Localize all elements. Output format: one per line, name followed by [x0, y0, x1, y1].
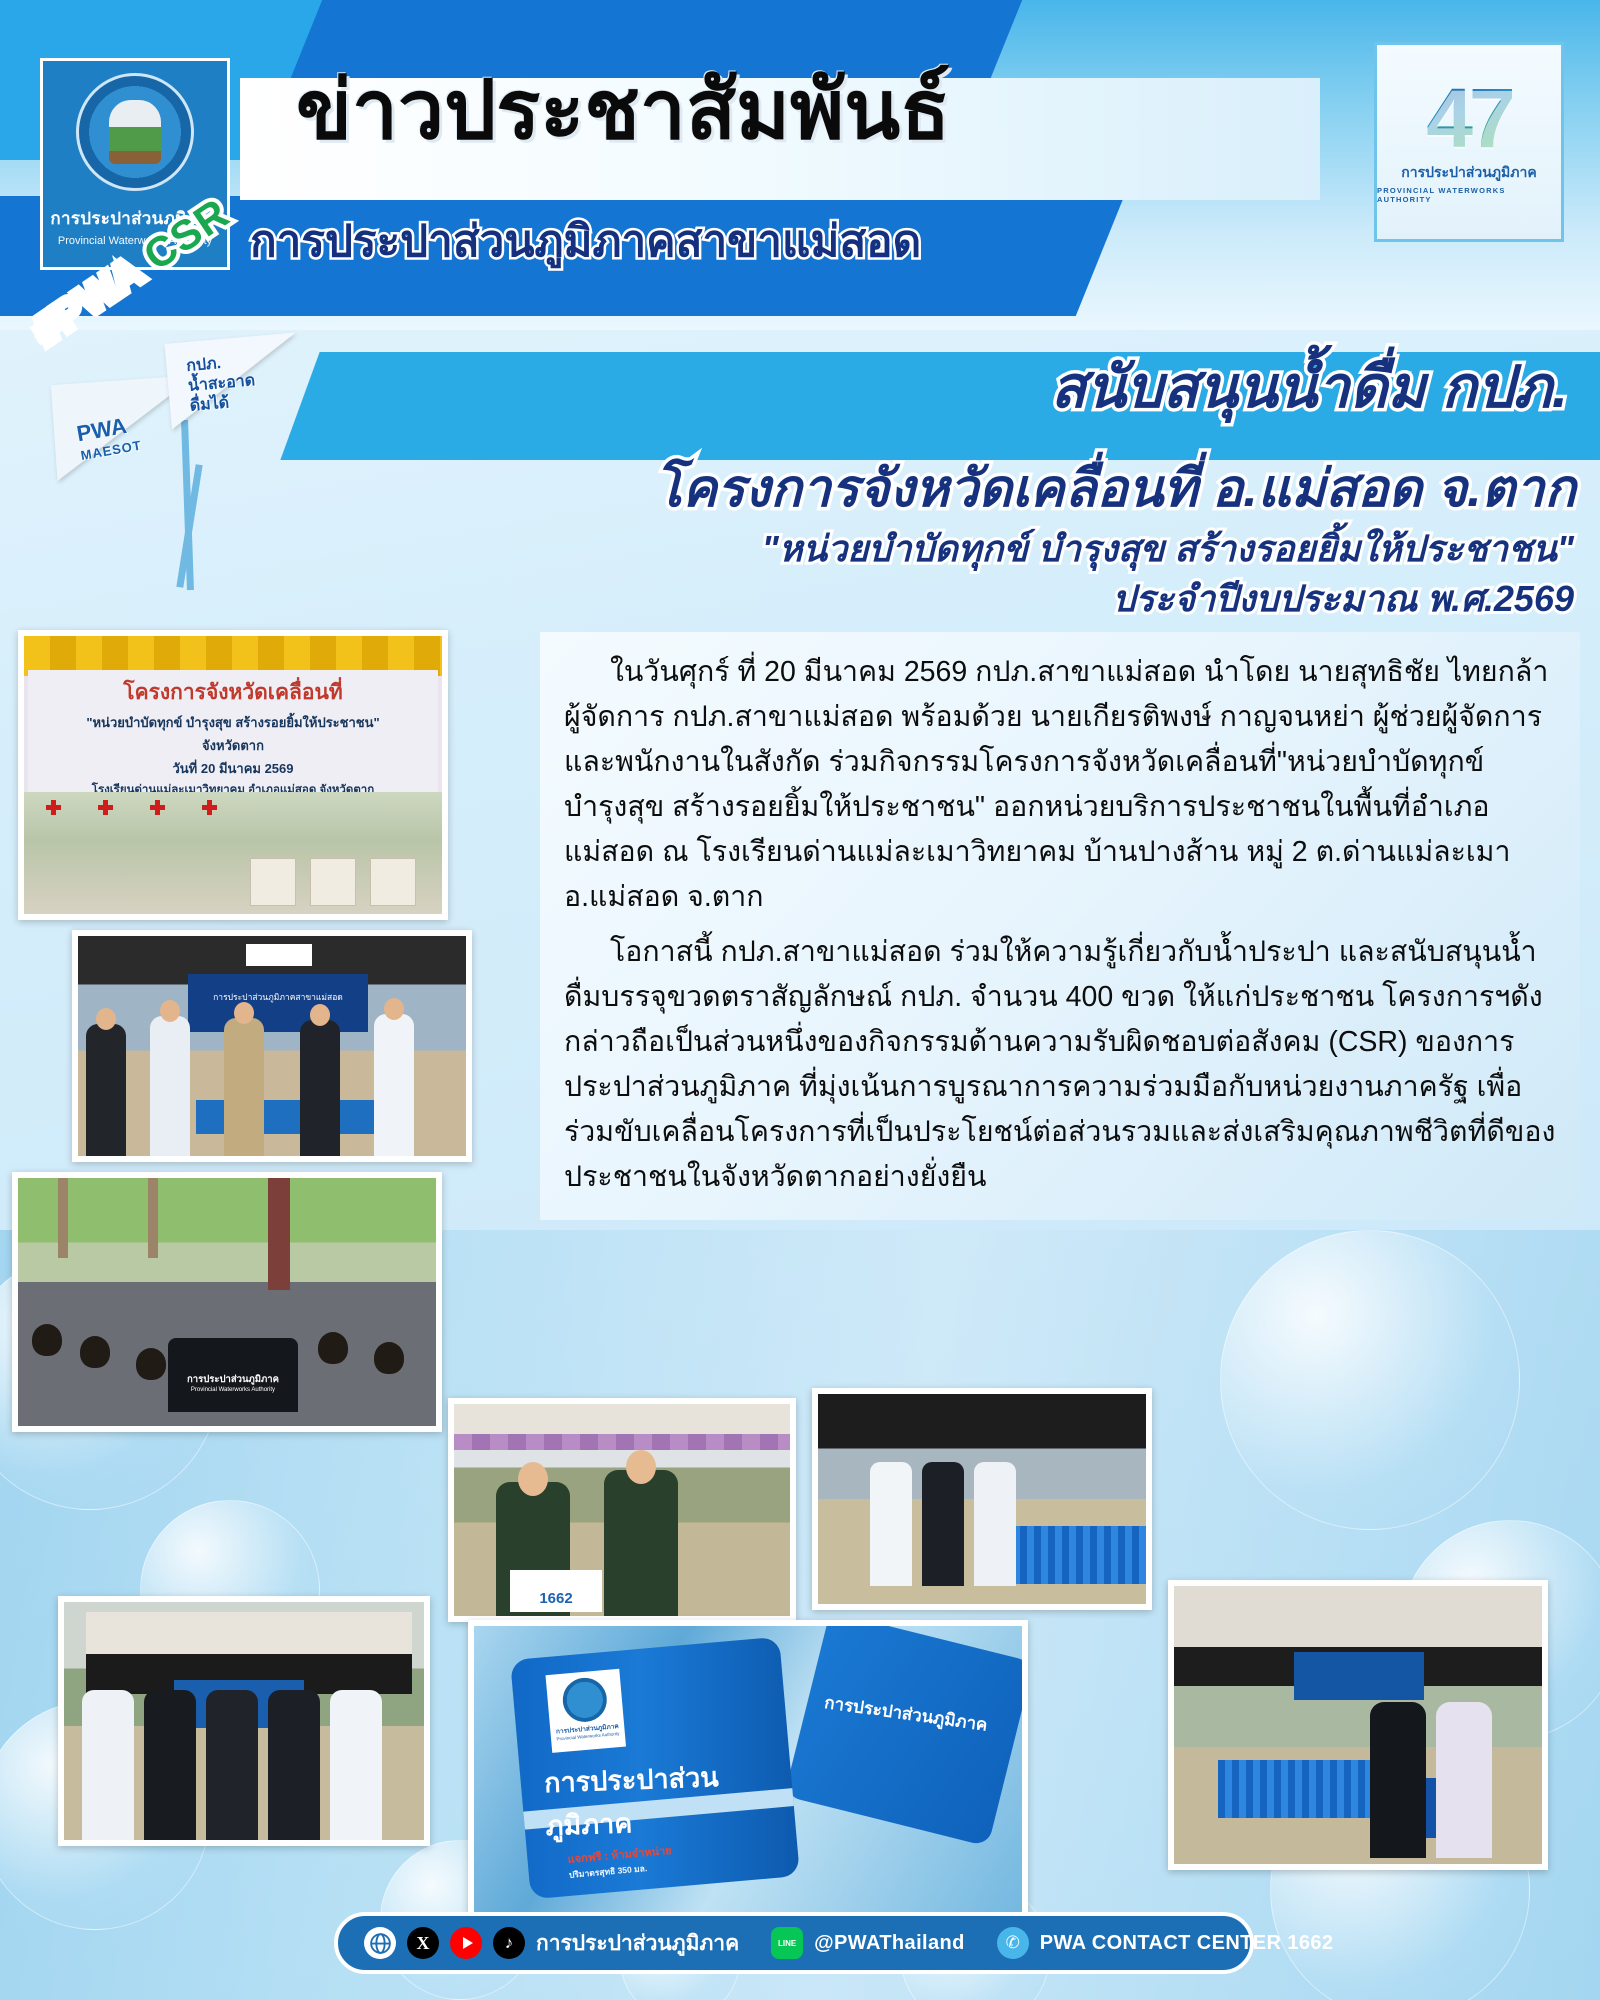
headline-line-4: ประจำปีงบประมาณ พ.ศ.2569: [1112, 578, 1574, 619]
pwa-seal-icon: [76, 73, 194, 191]
footer-contact-bar: X ♪ การประปาส่วนภูมิภาค LINE @PWAThailan…: [334, 1912, 1254, 1974]
secondary-bottle-brand: การประปาส่วนภูมิภาค: [823, 1689, 1019, 1743]
anniversary-english-name: PROVINCIAL WATERWORKS AUTHORITY: [1377, 186, 1561, 204]
booth-backdrop-banner: การประปาส่วนภูมิภาคสาขาแม่สอด: [188, 974, 368, 1032]
pwa-uniform-vest: การประปาส่วนภูมิภาค Provincial Waterwork…: [168, 1338, 298, 1412]
photo-team-at-booth: [812, 1388, 1152, 1610]
globe-icon[interactable]: [364, 1927, 396, 1959]
body-paragraph-1: ในวันศุกร์ ที่ 20 มีนาคม 2569 กปภ.สาขาแม…: [564, 650, 1558, 920]
body-paragraph-2: โอกาสนี้ กปภ.สาขาแม่สอด ร่วมให้ความรู้เก…: [564, 930, 1558, 1200]
bottle-brand-text: การประปาส่วนภูมิภาค: [543, 1753, 794, 1848]
bottle-seal-icon: [561, 1676, 609, 1724]
donation-goods-row: [24, 792, 442, 914]
banner-slogan: "หน่วยบำบัดทุกข์ บำรุงสุข สร้างรอยยิ้มให…: [28, 712, 438, 733]
photo-seated-audience: การประปาส่วนภูมิภาค Provincial Waterwork…: [12, 1172, 442, 1432]
phone-icon[interactable]: ✆: [997, 1927, 1029, 1959]
headline-line-1: สนับสนุนน้ำดื่ม กปภ.: [1051, 356, 1568, 420]
primary-bottle: การประปาส่วนภูมิภาค Provincial Waterwork…: [510, 1637, 800, 1900]
banner-title: โครงการจังหวัดเคลื่อนที่: [28, 676, 438, 709]
banner-text-block: โครงการจังหวัดเคลื่อนที่ "หน่วยบำบัดทุกข…: [28, 670, 438, 796]
anniversary-logo: 47 การประปาส่วนภูมิภาค PROVINCIAL WATERW…: [1374, 42, 1564, 242]
backdrop-thai: การประปาส่วนภูมิภาคสาขาแม่สอด: [188, 990, 368, 1004]
photo-event-banner: โครงการจังหวัดเคลื่อนที่ "หน่วยบำบัดทุกข…: [18, 630, 448, 920]
photo-staff-group: [58, 1596, 430, 1846]
vest-english-text: Provincial Waterworks Authority: [168, 1387, 298, 1393]
youtube-icon[interactable]: [450, 1927, 482, 1959]
banner-province: จังหวัดตาก: [28, 735, 438, 756]
footer-contact-center: PWA CONTACT CENTER 1662: [1040, 1932, 1334, 1955]
vest-thai-text: การประปาส่วนภูมิภาค: [168, 1372, 298, 1387]
photo-women-with-bottles: 1662: [448, 1398, 796, 1622]
footer-line-id: @PWAThailand: [814, 1932, 965, 1955]
headline-line-3: "หน่วยบำบัดทุกข์ บำรุงสุข สร้างรอยยิ้มให…: [762, 528, 1574, 569]
headline-line-2: โครงการจังหวัดเคลื่อนที่ อ.แม่สอด จ.ตาก: [654, 460, 1576, 518]
anniversary-number: 47: [1426, 80, 1511, 157]
photo-bottled-water-closeup: การประปาส่วนภูมิภาค การประปาส่วนภูมิภาค …: [468, 1620, 1028, 1920]
tiktok-icon[interactable]: ♪: [493, 1927, 525, 1959]
pair-booth-backdrop: [1294, 1652, 1424, 1700]
hotline-number: 1662: [510, 1590, 602, 1607]
article-body: ในวันศุกร์ ที่ 20 มีนาคม 2569 กปภ.สาขาแม…: [540, 632, 1580, 1220]
booth-drape: [454, 1434, 790, 1450]
line-icon[interactable]: LINE: [771, 1927, 803, 1959]
hotline-sign: 1662: [510, 1570, 602, 1612]
page-title: ข่าวประชาสัมพันธ์: [296, 70, 1296, 152]
x-twitter-icon[interactable]: X: [407, 1927, 439, 1959]
photo-booth-staff-pair: [1168, 1580, 1548, 1870]
booth-paper-sign: [246, 944, 312, 966]
footer-website-label: การประปาส่วนภูมิภาค: [536, 1927, 739, 1960]
branch-subtitle: การประปาส่วนภูมิภาคสาขาแม่สอด: [250, 218, 1310, 266]
banner-date: วันที่ 20 มีนาคม 2569: [28, 758, 438, 779]
photo-officials-with-bottles: การประปาส่วนภูมิภาคสาขาแม่สอด: [72, 930, 472, 1162]
bottle-notice-block: แจกฟรี : ห้ามจำหน่าย ปริมาตรสุทธิ 350 มล…: [567, 1841, 674, 1882]
flag-right-text: กปภ. น้ำสะอาด ดื่มได้: [186, 351, 258, 417]
bottle-logo-label: การประปาส่วนภูมิภาค Provincial Waterwork…: [545, 1669, 626, 1753]
anniversary-thai-name: การประปาส่วนภูมิภาค: [1401, 162, 1536, 184]
press-release-poster: การประปาส่วนภูมิภาค Provincial Waterwork…: [0, 0, 1600, 2000]
